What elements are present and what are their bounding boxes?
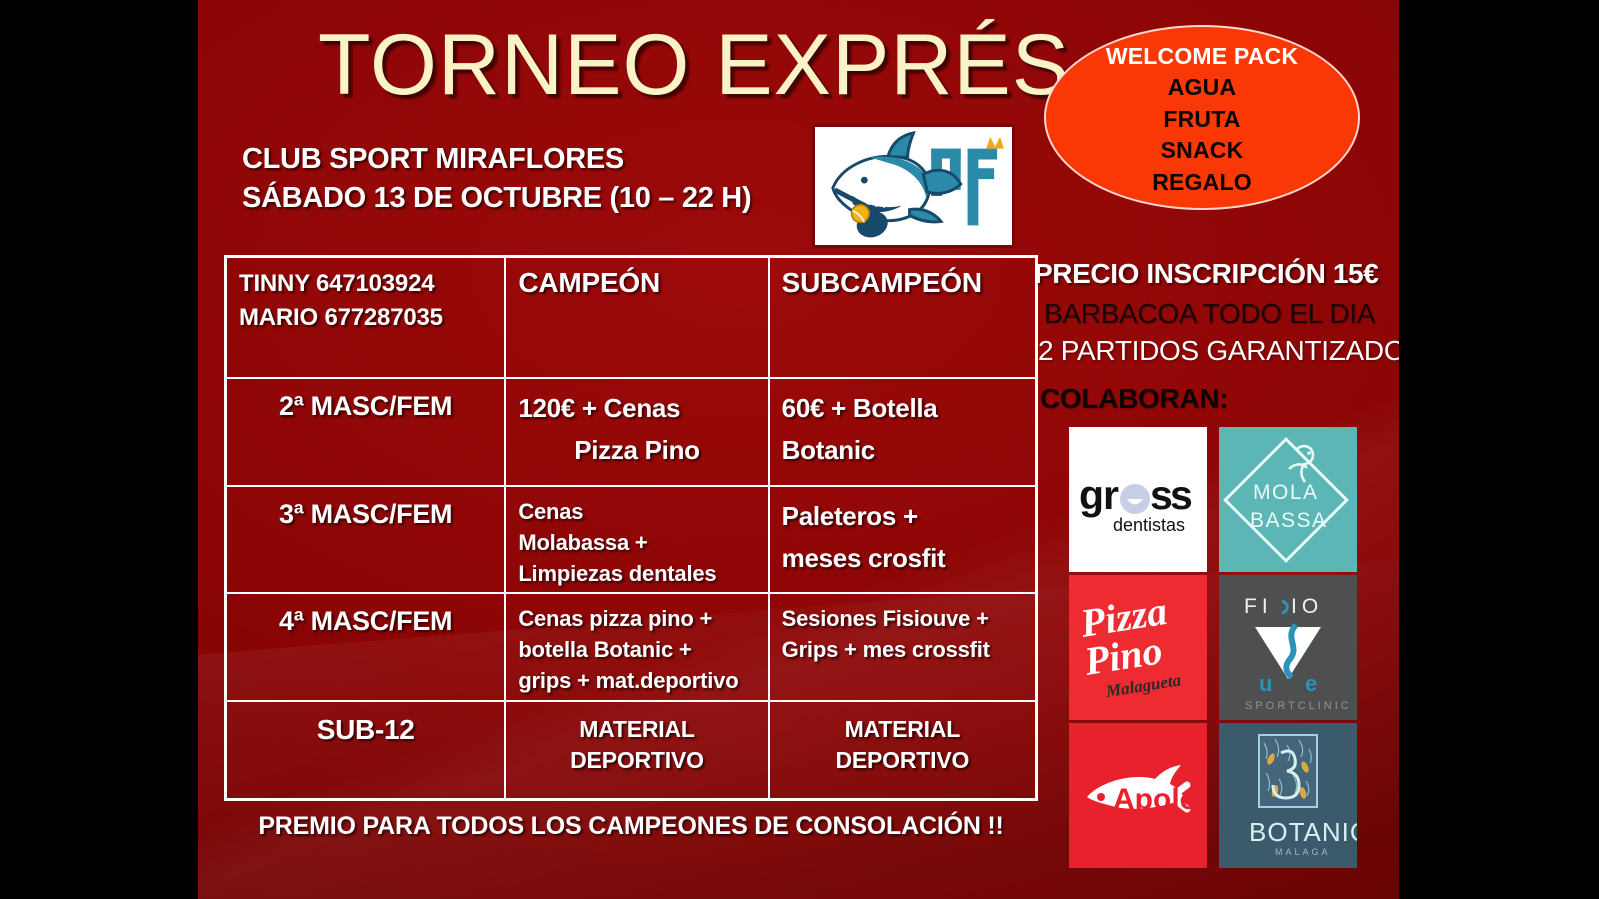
svg-text:SPORTCLINIC: SPORTCLINIC xyxy=(1245,700,1352,712)
welcome-pack-item-fruta: FRUTA xyxy=(1163,104,1240,136)
sponsor-fisiouve-sportclinic-logo: FI IO u e SPORTCLINIC xyxy=(1219,575,1357,720)
event-date: SÁBADO 13 DE OCTUBRE (10 – 22 H) xyxy=(242,179,822,218)
svg-text:Apolo: Apolo xyxy=(1113,783,1198,816)
sponsor-mola-bassa-logo: MOLA BASSA xyxy=(1219,427,1357,572)
table-row: 2ª MASC/FEM 120€ + Cenas Pizza Pino 60€ … xyxy=(227,379,1035,487)
club-sport-miraflores-logo xyxy=(812,124,1015,248)
svg-text:g: g xyxy=(1079,472,1103,518)
subcampeon-prize-line: DEPORTIVO xyxy=(782,745,1023,776)
contact-mario: MARIO 677287035 xyxy=(239,301,492,335)
subcampeon-prize-line: Sesiones Fisiouve + xyxy=(782,603,1023,634)
campeon-prize: MATERIAL DEPORTIVO xyxy=(506,702,769,798)
campeon-prize-line: Limpiezas dentales xyxy=(518,558,755,589)
category-label: 3ª MASC/FEM xyxy=(227,487,506,592)
campeon-prize: Cenas pizza pino + botella Botanic + gri… xyxy=(506,594,769,700)
svg-text:e: e xyxy=(1305,671,1317,696)
table-row: SUB-12 MATERIAL DEPORTIVO MATERIAL DEPOR… xyxy=(227,702,1035,798)
campeon-prize-line: botella Botanic + xyxy=(518,634,755,665)
prize-table: TINNY 647103924 MARIO 677287035 CAMPEÓN … xyxy=(224,255,1038,801)
category-label: 4ª MASC/FEM xyxy=(227,594,506,700)
table-header-row: TINNY 647103924 MARIO 677287035 CAMPEÓN … xyxy=(227,258,1035,379)
svg-text:r: r xyxy=(1103,472,1119,518)
contact-tinny: TINNY 647103924 xyxy=(239,267,492,301)
registration-price: PRECIO INSCRIPCIÓN 15€ xyxy=(1034,258,1390,290)
subcampeon-prize-line: Grips + mes crossfit xyxy=(782,634,1023,665)
campeon-prize-line: Cenas xyxy=(518,496,755,527)
svg-text:s: s xyxy=(1150,472,1172,518)
info-column: PRECIO INSCRIPCIÓN 15€ BARBACOA TODO EL … xyxy=(1034,258,1390,415)
subcampeon-prize-line: Paleteros + xyxy=(782,496,1023,538)
column-header-subcampeon: SUBCAMPEÓN xyxy=(770,258,1035,377)
category-label: SUB-12 xyxy=(227,702,506,798)
collaborators-label: COLABORAN: xyxy=(1034,383,1390,415)
welcome-pack-item-snack: SNACK xyxy=(1161,135,1244,167)
sponsor-grid: g r s s dentistas xyxy=(1069,427,1357,868)
subcampeon-prize: 60€ + Botella Botanic xyxy=(770,379,1035,485)
campeon-prize: Cenas Molabassa + Limpiezas dentales xyxy=(506,487,769,592)
welcome-pack-title: WELCOME PACK xyxy=(1106,42,1298,72)
subcampeon-prize-line: 60€ + Botella xyxy=(782,388,1023,430)
contacts-cell: TINNY 647103924 MARIO 677287035 xyxy=(227,258,506,377)
campeon-prize-line: Pizza Pino xyxy=(518,430,755,472)
subcampeon-prize: Sesiones Fisiouve + Grips + mes crossfit xyxy=(770,594,1035,700)
welcome-pack-item-agua: AGUA xyxy=(1168,72,1237,104)
table-row: 4ª MASC/FEM Cenas pizza pino + botella B… xyxy=(227,594,1035,702)
svg-text:FI: FI xyxy=(1244,595,1273,618)
welcome-pack-badge: WELCOME PACK AGUA FRUTA SNACK REGALO xyxy=(1044,25,1360,210)
svg-text:dentistas: dentistas xyxy=(1113,515,1185,535)
column-header-campeon: CAMPEÓN xyxy=(506,258,769,377)
svg-text:IO: IO xyxy=(1291,595,1323,618)
sponsor-botanic-malaga-logo: BOTANIC MALAGA xyxy=(1219,723,1357,868)
event-venue: CLUB SPORT MIRAFLORES xyxy=(242,140,822,179)
subcampeon-prize: MATERIAL DEPORTIVO xyxy=(770,702,1035,798)
event-subtitle: CLUB SPORT MIRAFLORES SÁBADO 13 DE OCTUB… xyxy=(242,140,822,218)
campeon-prize-line: MATERIAL xyxy=(518,714,755,745)
svg-text:MOLA: MOLA xyxy=(1253,481,1319,504)
campeon-prize-line: Cenas pizza pino + xyxy=(518,603,755,634)
guaranteed-matches: 2 PARTIDOS GARANTIZADOS xyxy=(1034,335,1390,367)
svg-text:s: s xyxy=(1170,472,1192,518)
barbecue-note: BARBACOA TODO EL DIA xyxy=(1034,298,1390,330)
sponsor-gross-dentistas-logo: g r s s dentistas xyxy=(1069,427,1207,572)
svg-text:BOTANIC: BOTANIC xyxy=(1249,817,1357,847)
welcome-pack-item-regalo: REGALO xyxy=(1152,167,1252,199)
sponsor-apolo-logo: Apolo xyxy=(1069,723,1207,868)
page-title: TORNEO EXPRÉS xyxy=(318,22,1058,108)
consolation-prize-note: PREMIO PARA TODOS LOS CAMPEONES DE CONSO… xyxy=(224,812,1038,841)
campeon-prize-line: Molabassa + xyxy=(518,527,755,558)
svg-text:BASSA: BASSA xyxy=(1250,509,1328,532)
subcampeon-prize: Paleteros + meses crosfit xyxy=(770,487,1035,592)
subcampeon-prize-line: meses crosfit xyxy=(782,538,1023,580)
sponsor-pizza-pino-logo: Pizza Pino Malagueta xyxy=(1069,575,1207,720)
tournament-poster: TORNEO EXPRÉS CLUB SPORT MIRAFLORES SÁBA… xyxy=(198,0,1399,899)
subcampeon-prize-line: MATERIAL xyxy=(782,714,1023,745)
screenshot-stage: TORNEO EXPRÉS CLUB SPORT MIRAFLORES SÁBA… xyxy=(0,0,1599,899)
subcampeon-prize-line: Botanic xyxy=(782,430,1023,472)
campeon-prize-line: 120€ + Cenas xyxy=(518,388,755,430)
campeon-prize-line: grips + mat.deportivo xyxy=(518,665,755,696)
campeon-prize: 120€ + Cenas Pizza Pino xyxy=(506,379,769,485)
svg-text:u: u xyxy=(1259,671,1272,696)
campeon-prize-line: DEPORTIVO xyxy=(518,745,755,776)
category-label: 2ª MASC/FEM xyxy=(227,379,506,485)
table-row: 3ª MASC/FEM Cenas Molabassa + Limpiezas … xyxy=(227,487,1035,594)
svg-text:MALAGA: MALAGA xyxy=(1275,847,1331,857)
